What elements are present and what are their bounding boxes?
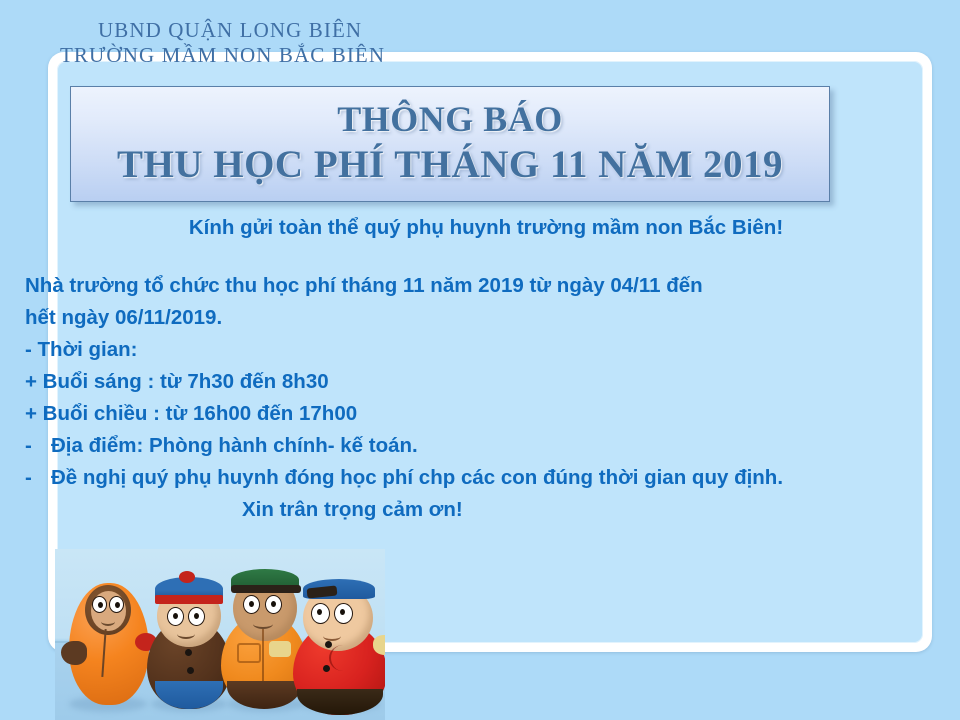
thanks-line: Xin trân trọng cảm ơn!: [14, 494, 946, 526]
stan-button-bottom: [187, 667, 194, 674]
kyle-eye-right: [265, 595, 282, 614]
kenny-eye-right: [109, 596, 124, 613]
item-place-text: Địa điểm: Phòng hành chính- kế toán.: [51, 434, 418, 457]
item-place-row: -Địa điểm: Phòng hành chính- kế toán.: [14, 430, 946, 462]
stan-pupil-right: [194, 613, 199, 619]
cartman-button-top: [325, 641, 332, 648]
stan-pants: [155, 681, 223, 709]
kyle-pants: [227, 681, 301, 709]
item-time-label: - Thời gian:: [14, 334, 946, 366]
greeting-line: Kính gửi toàn thể quý phụ huynh trường m…: [14, 212, 946, 244]
paragraph-line-1: Nhà trường tổ chức thu học phí tháng 11 …: [14, 270, 946, 302]
kyle-eye-left: [243, 595, 260, 614]
paragraph-line-2: hết ngày 06/11/2019.: [14, 302, 946, 334]
kenny-pupil-right: [115, 602, 120, 608]
stan-eye-left: [167, 607, 184, 626]
stan-pupil-left: [173, 613, 178, 619]
cartman-eye-right: [334, 603, 353, 624]
stan-hat-band: [155, 595, 223, 604]
organization-header: UBND QUẬN LONG BIÊN TRƯỜNG MẦM NON BẮC B…: [60, 18, 385, 68]
item-request-text: Đề nghị quý phụ huynh đóng học phí chp c…: [51, 466, 783, 489]
item-request-dash: -: [25, 462, 51, 494]
banner-title-line2: THU HỌC PHÍ THÁNG 11 NĂM 2019: [117, 140, 783, 190]
kenny-pupil-left: [98, 602, 103, 608]
kenny-eye-left: [92, 596, 107, 613]
cartman-eye-left: [311, 603, 330, 624]
cartman-doll: [291, 583, 385, 713]
item-afternoon-session: + Buổi chiều : từ 16h00 đến 17h00: [14, 398, 946, 430]
kenny-mouth: [101, 617, 115, 626]
cartman-mouth: [323, 631, 341, 641]
item-request-row: -Đề nghị quý phụ huynh đóng học phí chp …: [14, 462, 946, 494]
kyle-pocket: [237, 643, 261, 663]
cartman-pants: [297, 689, 383, 715]
header-line-school: TRƯỜNG MẦM NON BẮC BIÊN: [60, 43, 385, 68]
notice-poster: UBND QUẬN LONG BIÊN TRƯỜNG MẦM NON BẮC B…: [0, 0, 960, 720]
cartman-pupil-left: [317, 609, 322, 615]
kyle-pupil-right: [271, 601, 276, 607]
cartman-button-bottom: [323, 665, 330, 672]
stan-eye-right: [188, 607, 205, 626]
item-place-dash: -: [25, 430, 51, 462]
notice-body: Kính gửi toàn thể quý phụ huynh trường m…: [14, 212, 946, 526]
stan-hat-pom: [179, 571, 195, 583]
kenny-doll: [63, 571, 155, 707]
kenny-mitten: [61, 641, 87, 665]
plush-toys-photo: [55, 549, 385, 720]
kyle-jacket-seam: [262, 629, 264, 681]
stan-button-top: [185, 649, 192, 656]
banner-title-line1: THÔNG BÁO: [337, 98, 563, 140]
kyle-patch: [269, 641, 291, 657]
kyle-mouth: [253, 619, 273, 629]
kyle-pupil-left: [249, 601, 254, 607]
header-line-authority: UBND QUẬN LONG BIÊN: [60, 18, 385, 43]
item-morning-session: + Buổi sáng : từ 7h30 đến 8h30: [14, 366, 946, 398]
stan-mouth: [177, 629, 195, 639]
cartman-coat-seam: [329, 645, 357, 671]
cartman-pupil-right: [340, 609, 345, 615]
title-banner: THÔNG BÁO THU HỌC PHÍ THÁNG 11 NĂM 2019: [70, 86, 830, 202]
